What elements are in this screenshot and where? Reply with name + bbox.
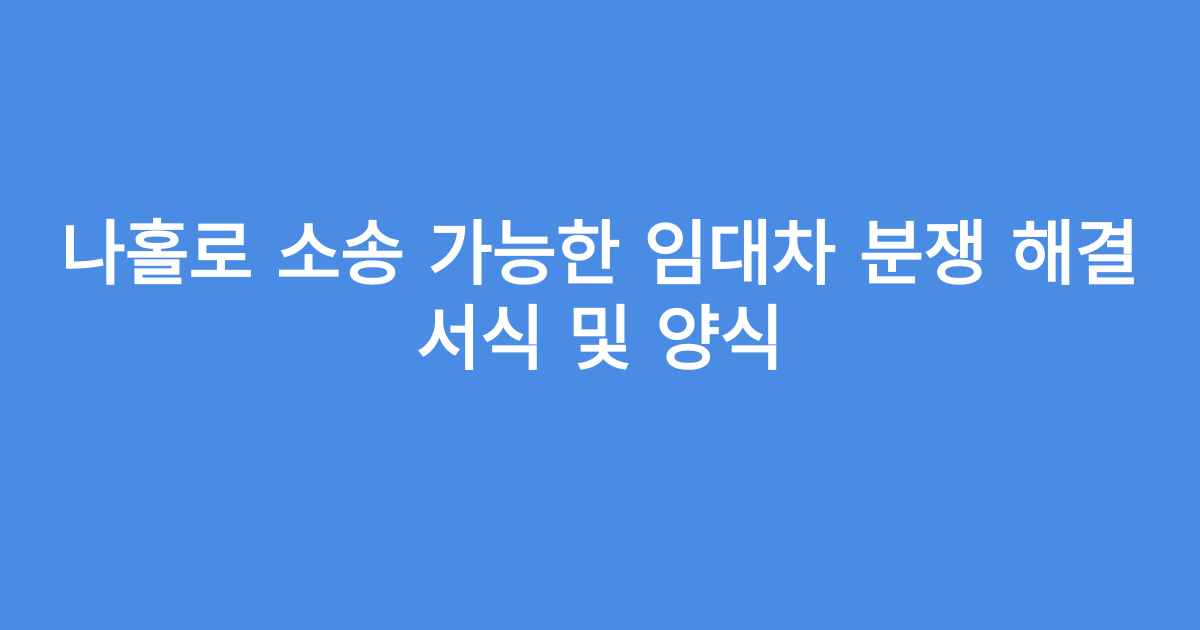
banner-content: 나홀로 소송 가능한 임대차 분쟁 해결 서식 및 양식 [50,212,1150,382]
page-title-line-1: 나홀로 소송 가능한 임대차 분쟁 해결 [50,212,1150,297]
page-title-line-2: 서식 및 양식 [50,297,1150,382]
banner-card: 나홀로 소송 가능한 임대차 분쟁 해결 서식 및 양식 [0,0,1200,630]
page-title: 나홀로 소송 가능한 임대차 분쟁 해결 서식 및 양식 [50,212,1150,382]
